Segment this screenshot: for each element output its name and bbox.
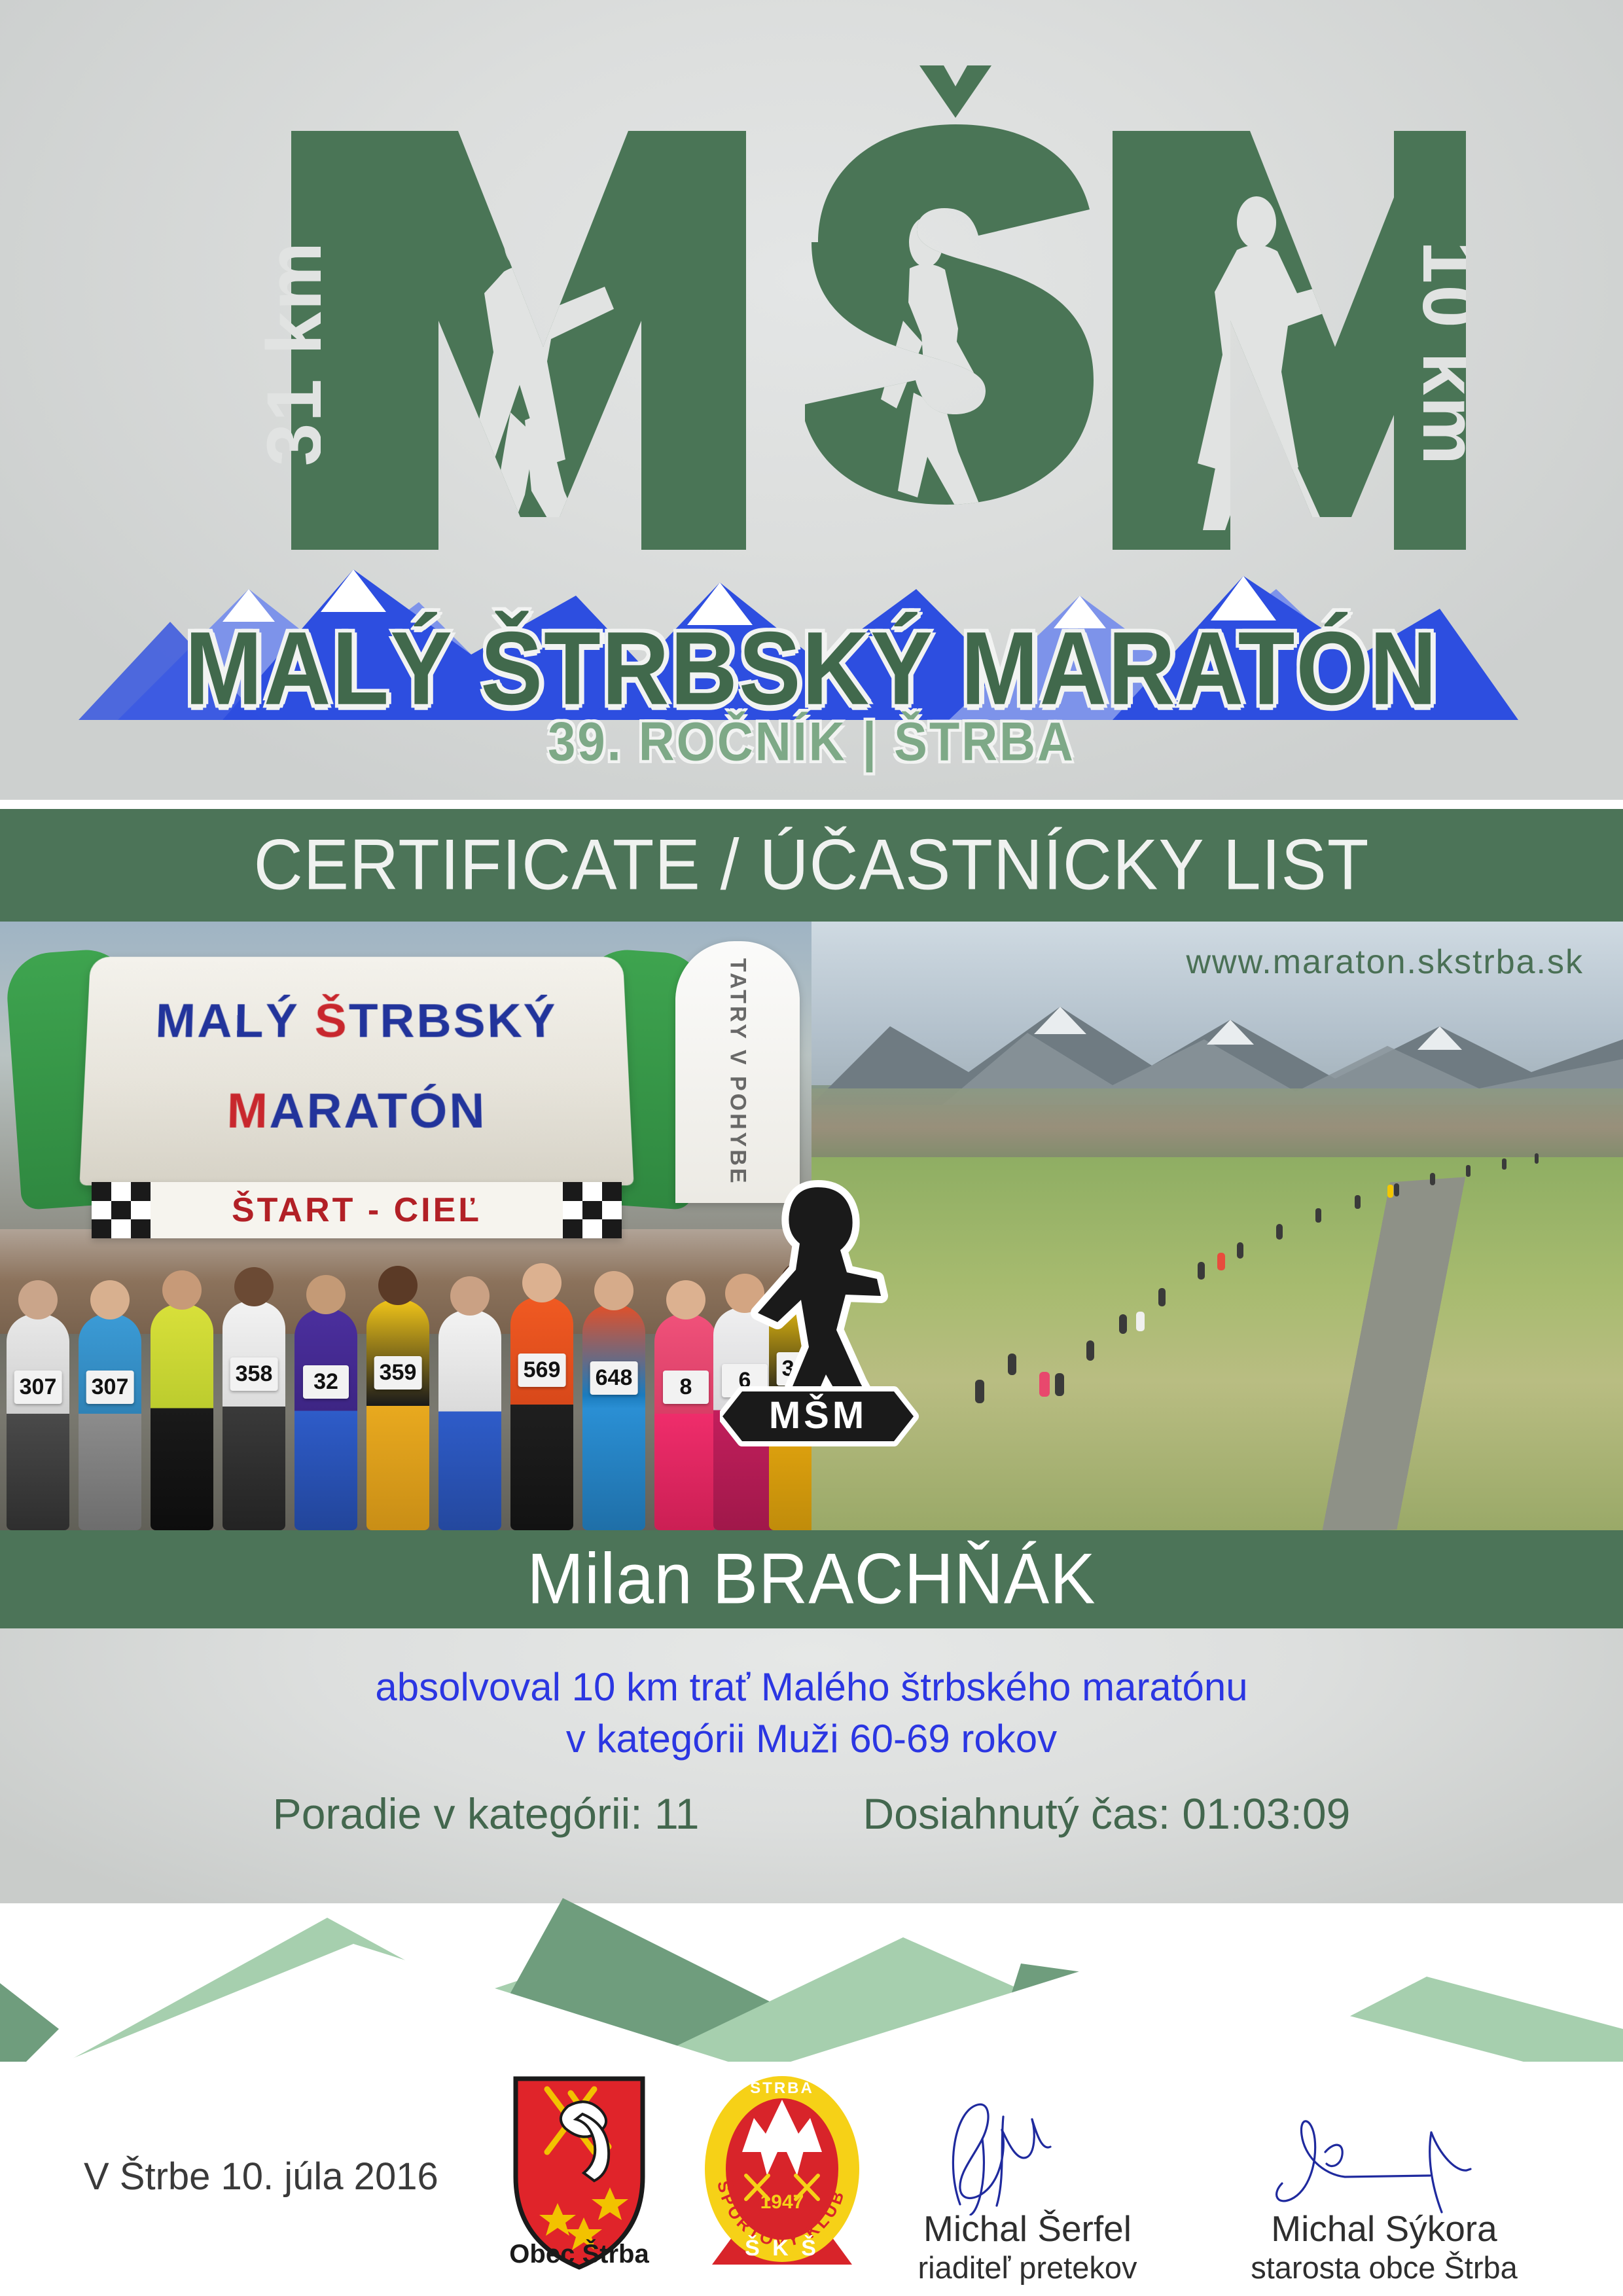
arch-word-maly: MALÝ [154,994,315,1047]
participant-name: Milan BRACHŇÁK [527,1539,1096,1621]
photo-strip: MALÝ ŠTRBSKÝ MARATÓN ŠTART - CIEĽ [0,922,1623,1530]
arch-letter-m: M [226,1083,270,1138]
arch-banner-line2: MARATÓN [82,1083,632,1139]
checker-flag-left-icon [92,1182,151,1238]
emblem-text: MŠM [769,1394,867,1437]
finish-time: Dosiahnutý čas: 01:03:09 [863,1789,1351,1839]
sponsor-flag-text: TATRY V POHYBE [725,958,751,1186]
sponsor-flag: TATRY V POHYBE [675,941,800,1203]
runner-bib: 569 [518,1354,566,1387]
footer-mountain-decor [0,1878,1623,2088]
results-row: Poradie v kategórii: 11 Dosiahnutý čas: … [0,1789,1623,1839]
runner-bib: 359 [374,1356,422,1390]
logo-letter-m1 [288,111,746,569]
club-name: ŠTRBA [750,2079,814,2097]
runner-figure [438,1310,501,1530]
start-line-photo: MALÝ ŠTRBSKÝ MARATÓN ŠTART - CIEĽ [0,922,811,1530]
participant-name-bar: Milan BRACHŇÁK [0,1530,1623,1628]
runner-figure: 32 [294,1309,357,1530]
runner-figure: 358 [223,1301,285,1530]
sks-club-logo-icon: 1947 ŠPORTOVÝ KLUB Š K Š ŠTRBA [700,2071,864,2267]
arch-word-araton: ARATÓN [269,1083,487,1138]
start-finish-text: ŠTART - CIEĽ [232,1191,482,1230]
header-logo-band: 31 km [0,0,1623,800]
event-subtitle: 39. ROČNÍK | ŠTRBA [0,711,1623,774]
runner-figure: 307 [7,1314,69,1530]
signatory-name: Michal Šerfel [857,2208,1198,2250]
description-line-2: v kategórii Muži 60-69 rokov [0,1713,1623,1765]
description-line-1: absolvoval 10 km trať Malého štrbského m… [0,1661,1623,1713]
participation-description: absolvoval 10 km trať Malého štrbského m… [0,1661,1623,1765]
signature-icon [919,2101,1135,2215]
road-runners [811,922,1623,1530]
runner-figure [151,1304,213,1530]
arch-banner-line1: MALÝ ŠTRBSKÝ [86,994,628,1048]
signatory-role: starosta obce Štrba [1214,2250,1554,2286]
runner-bib: 307 [86,1371,134,1404]
runner-bib: 32 [303,1365,349,1399]
signatory-name: Michal Sýkora [1214,2208,1554,2250]
issue-date: V Štrbe 10. júla 2016 [84,2155,438,2198]
msm-logo-svg: 31 km [157,46,1466,622]
logo-letter-s [805,65,1145,569]
runner-bib: 358 [230,1357,278,1391]
checker-flag-right-icon [563,1182,622,1238]
website-url[interactable]: www.maraton.skstrba.sk [1186,942,1584,982]
club-year: 1947 [760,2191,804,2213]
runner-figure: 359 [366,1300,429,1530]
runner-bib: 648 [590,1361,638,1395]
arch-letter-s: Š [315,994,349,1047]
signature-icon [1266,2101,1502,2215]
certificate-page: 31 km [0,0,1623,2296]
runner-bib: 8 [663,1371,709,1404]
participant-details: absolvoval 10 km trať Malého štrbského m… [0,1628,1623,1903]
arch-word-trbsky: TRBSKÝ [349,994,559,1047]
course-landscape-photo: www.maraton.skstrba.sk [811,922,1623,1530]
signatory-role: riaditeľ pretekov [857,2250,1198,2286]
runner-crowd: 307 307 358 32 [0,1255,811,1530]
runner-figure: 648 [582,1305,645,1530]
category-rank: Poradie v kategórii: 11 [273,1789,700,1839]
runner-figure: 307 [79,1314,141,1530]
arch-banner: MALÝ ŠTRBSKÝ MARATÓN [79,957,633,1185]
svg-text:10 km: 10 km [1406,241,1466,467]
start-finish-strip: ŠTART - CIEĽ [92,1182,622,1238]
crest-caption: Obec Štrba [488,2240,671,2269]
certificate-title: CERTIFICATE / ÚČASTNÍCKY LIST [254,825,1370,906]
footer: V Štrbe 10. júla 2016 Obec Štrba [0,2062,1623,2296]
club-initials: Š K Š [745,2235,819,2261]
certificate-title-bar: CERTIFICATE / ÚČASTNÍCKY LIST [0,809,1623,922]
signature-block-mayor: Michal Sýkora starosta obce Štrba [1214,2101,1554,2286]
signature-block-director: Michal Šerfel riaditeľ pretekov [857,2101,1198,2286]
msm-logo: 31 km [0,46,1623,635]
runner-figure: 569 [510,1297,573,1530]
msm-runner-emblem: MŠM [720,1174,929,1475]
runner-bib: 307 [14,1371,62,1404]
runner-figure: 8 [654,1314,717,1530]
